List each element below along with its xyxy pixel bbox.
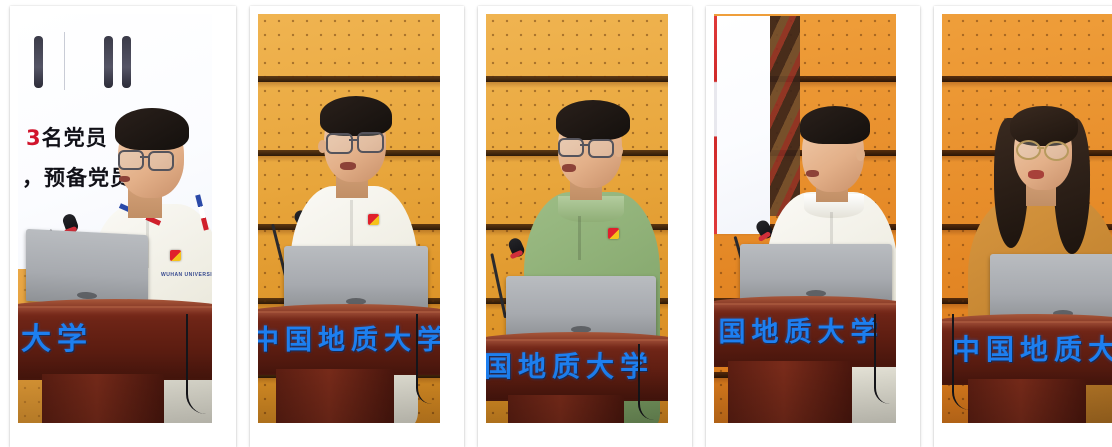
laptop: [506, 276, 656, 338]
projection-screen: [714, 16, 770, 234]
photo-vignette: [942, 365, 1112, 423]
photo-collage: 3名党员 ，预备党员 WUHAN UNIVERSITY: [0, 0, 1112, 442]
screen-edge-marker: [714, 16, 717, 234]
slide-line-2: ，预备党员: [22, 162, 132, 192]
speaker-2-photo: 中国地质大学: [258, 14, 440, 423]
wall-dark-strip: [770, 16, 800, 216]
speaker-4-hair: [800, 106, 870, 144]
speaker-2-mouth: [340, 162, 356, 170]
slide-line-1: 3名党员: [26, 122, 108, 152]
speaker-2-hair: [320, 96, 392, 136]
speaker-3-placket: [578, 216, 581, 260]
laptop: [740, 244, 892, 302]
speaker-1-photo: 3名党员 ，预备党员 WUHAN UNIVERSITY: [18, 14, 212, 423]
podium-engraving: 国地质大学: [714, 310, 892, 349]
speaker-3-glasses: [558, 138, 616, 158]
photo-vignette: [486, 367, 668, 423]
laptop: [26, 229, 148, 307]
speaker-3-photo: 国地质大学: [486, 14, 668, 423]
laptop: [284, 246, 428, 310]
laptop: [990, 254, 1112, 322]
photo-vignette: [18, 353, 212, 423]
slide-divider: [64, 32, 65, 90]
photo-vignette: [258, 363, 440, 423]
speaker-5-panel[interactable]: 中国地质大学: [934, 6, 1112, 447]
speaker-2-panel[interactable]: 中国地质大学: [250, 6, 464, 447]
speaker-4-mouth: [806, 170, 819, 177]
podium-engraving: 中国地质大学: [952, 328, 1112, 368]
slide-decor-bars: [34, 36, 131, 88]
speaker-1-glasses: [118, 150, 176, 170]
speaker-1-hair: [115, 108, 189, 150]
party-emblem-badge: [368, 214, 379, 225]
speaker-5-photo: 中国地质大学: [942, 14, 1112, 423]
party-emblem-badge: [608, 228, 619, 239]
speaker-5-mouth: [1028, 170, 1044, 179]
speaker-4-photo: 国地质大学: [714, 14, 896, 423]
university-chest-logo: WUHAN UNIVERSITY: [161, 272, 212, 278]
speaker-2-glasses: [326, 132, 384, 152]
speaker-5-glasses: [1016, 140, 1070, 160]
photo-vignette: [714, 365, 896, 423]
speaker-3-hair: [556, 100, 630, 140]
speaker-3-mouth: [562, 164, 576, 172]
speaker-4-panel[interactable]: 国地质大学: [706, 6, 920, 447]
speaker-4-ear: [856, 148, 865, 161]
speaker-1-panel[interactable]: 3名党员 ，预备党员 WUHAN UNIVERSITY: [10, 6, 236, 447]
speaker-3-panel[interactable]: 国地质大学: [478, 6, 692, 447]
podium-engraving: 大学: [18, 314, 154, 358]
speaker-1-mouth: [119, 176, 130, 182]
party-emblem-badge: [170, 250, 181, 261]
podium-engraving: 中国地质大学: [258, 318, 434, 357]
